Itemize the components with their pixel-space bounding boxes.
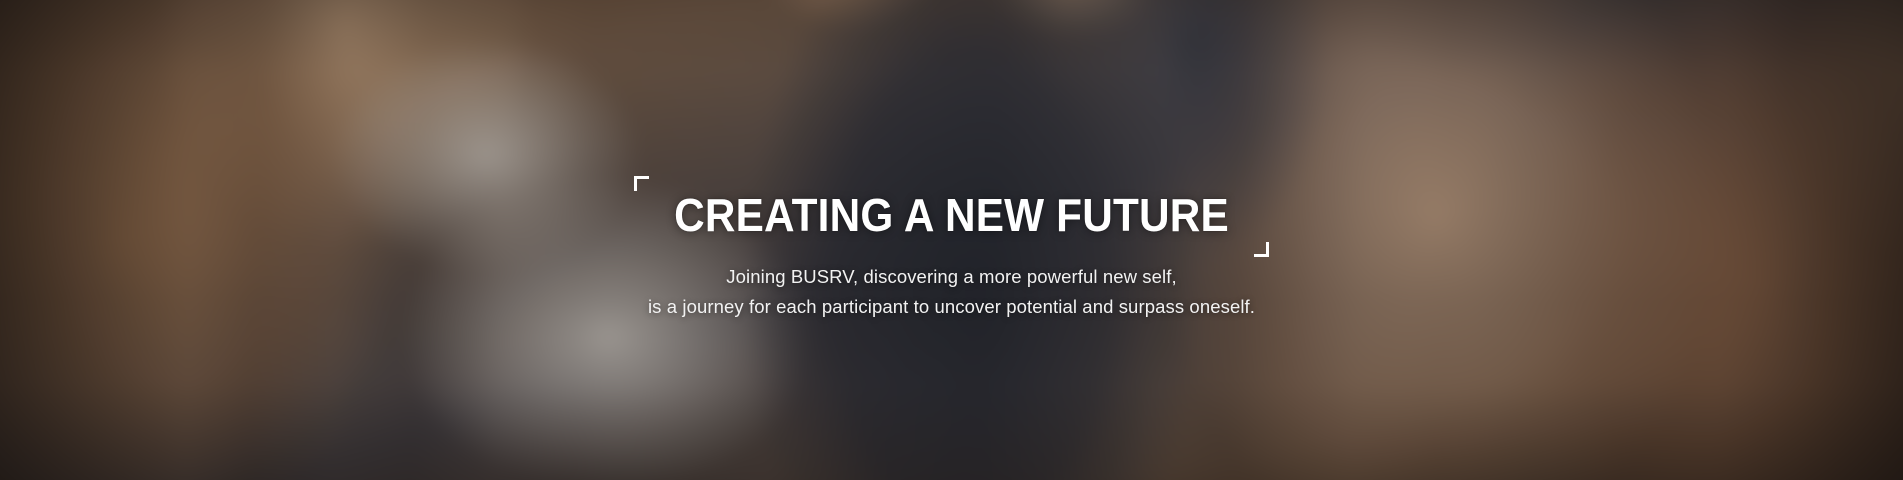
- hero-subtitle-line-2: is a journey for each participant to unc…: [648, 292, 1255, 322]
- hero-content: CREATING A NEW FUTURE Joining BUSRV, dis…: [0, 0, 1903, 480]
- hero-headline: CREATING A NEW FUTURE: [674, 192, 1229, 240]
- corner-bracket-close-icon: [1254, 242, 1269, 257]
- hero-subtitle: Joining BUSRV, discovering a more powerf…: [648, 262, 1255, 322]
- corner-bracket-open-icon: [634, 176, 649, 191]
- hero-subtitle-line-1: Joining BUSRV, discovering a more powerf…: [648, 262, 1255, 292]
- headline-container: CREATING A NEW FUTURE: [636, 192, 1267, 240]
- hero-banner: CREATING A NEW FUTURE Joining BUSRV, dis…: [0, 0, 1903, 480]
